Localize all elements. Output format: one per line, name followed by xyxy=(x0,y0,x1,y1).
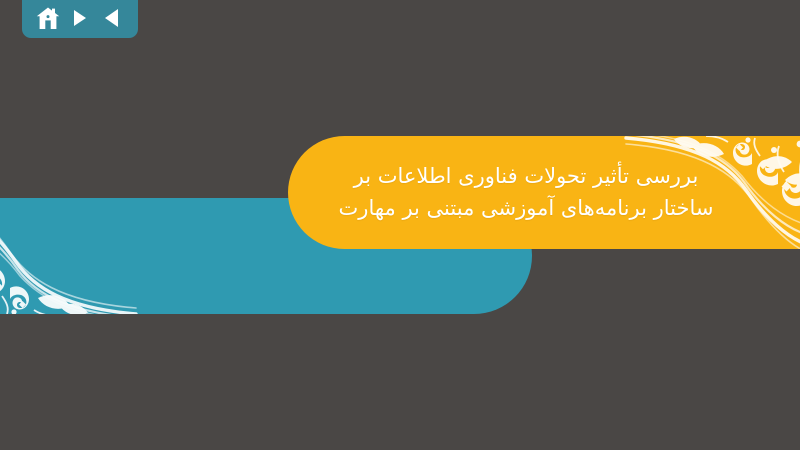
home-button[interactable] xyxy=(34,5,62,31)
navigation-bar xyxy=(22,0,138,38)
title-line-1: بررسی تأثیر تحولات فناوری اطلاعات بر xyxy=(328,161,724,193)
triangle-right-icon xyxy=(72,8,88,28)
arabesque-corner-ornament-icon xyxy=(0,198,138,314)
page-title: بررسی تأثیر تحولات فناوری اطلاعات بر ساخ… xyxy=(288,161,800,225)
home-icon xyxy=(36,7,60,30)
title-line-2: ساختار برنامه‌های آموزشی مبتنی بر مهارت xyxy=(328,193,724,225)
presentation-slide: بررسی تأثیر تحولات فناوری اطلاعات بر ساخ… xyxy=(0,0,800,450)
orange-title-banner: بررسی تأثیر تحولات فناوری اطلاعات بر ساخ… xyxy=(288,136,800,249)
forward-button[interactable] xyxy=(66,5,94,31)
back-button[interactable] xyxy=(98,5,126,31)
triangle-left-icon xyxy=(103,8,121,28)
